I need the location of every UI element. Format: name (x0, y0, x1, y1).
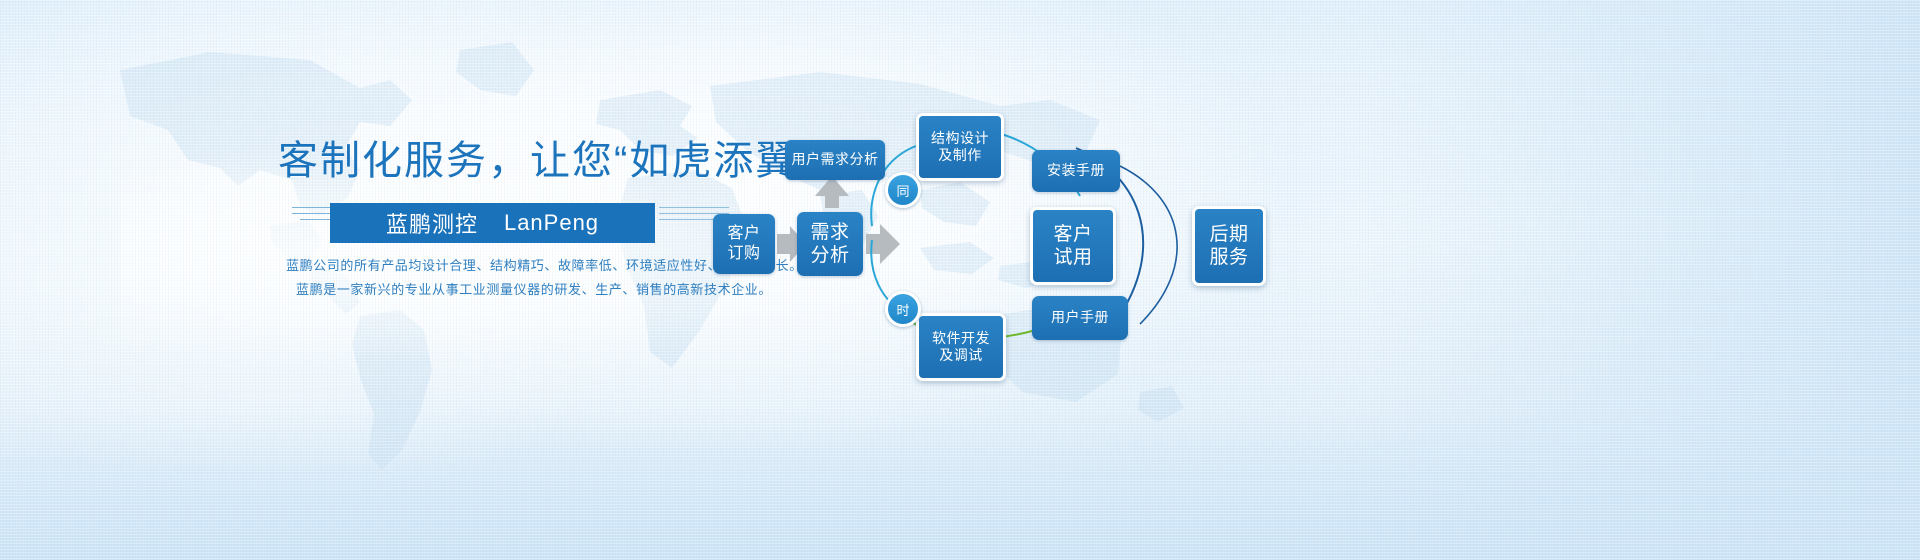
flow-node-customer-trial[interactable]: 客户试用 (1030, 207, 1116, 285)
flow-node-structure-design[interactable]: 结构设计及制作 (916, 113, 1004, 181)
brand-bar: 蓝鹏测控 LanPeng (330, 203, 655, 243)
banner-stage: 客制化服务，让您“如虎添翼” 蓝鹏测控 LanPeng 蓝鹏公司的所有产品均设计… (0, 0, 1920, 560)
brand-name-en: LanPeng (504, 210, 599, 236)
flow-node-structure-design-label: 结构设计及制作 (931, 130, 989, 164)
flow-node-requirement-analysis[interactable]: 需求分析 (797, 212, 863, 276)
brand-name-cn: 蓝鹏测控 (386, 207, 478, 239)
flow-node-customer-trial-label: 客户试用 (1053, 223, 1092, 269)
flow-badge-tong: 同 (885, 172, 921, 208)
flow-node-user-requirement-analysis[interactable]: 用户需求分析 (785, 140, 885, 180)
flow-node-customer-order-label: 客户订购 (727, 224, 760, 263)
subtitle-line-2: 蓝鹏是一家新兴的专业从事工业测量仪器的研发、生产、销售的高新技术企业。 (296, 279, 772, 298)
flow-node-installation-manual[interactable]: 安装手册 (1032, 150, 1120, 192)
flow-node-user-manual[interactable]: 用户手册 (1032, 296, 1128, 340)
flow-node-software-development[interactable]: 软件开发及调试 (916, 313, 1006, 381)
flow-node-after-sales-service[interactable]: 后期服务 (1192, 206, 1266, 286)
flow-badge-shi: 时 (885, 291, 921, 327)
flow-node-software-development-label: 软件开发及调试 (932, 330, 990, 364)
background-dot-texture (0, 0, 1920, 560)
flow-node-customer-order[interactable]: 客户订购 (713, 214, 775, 274)
flow-node-after-sales-service-label: 后期服务 (1209, 223, 1248, 269)
page-title: 客制化服务，让您“如虎添翼” (278, 141, 813, 181)
flow-node-requirement-analysis-label: 需求分析 (810, 221, 849, 267)
